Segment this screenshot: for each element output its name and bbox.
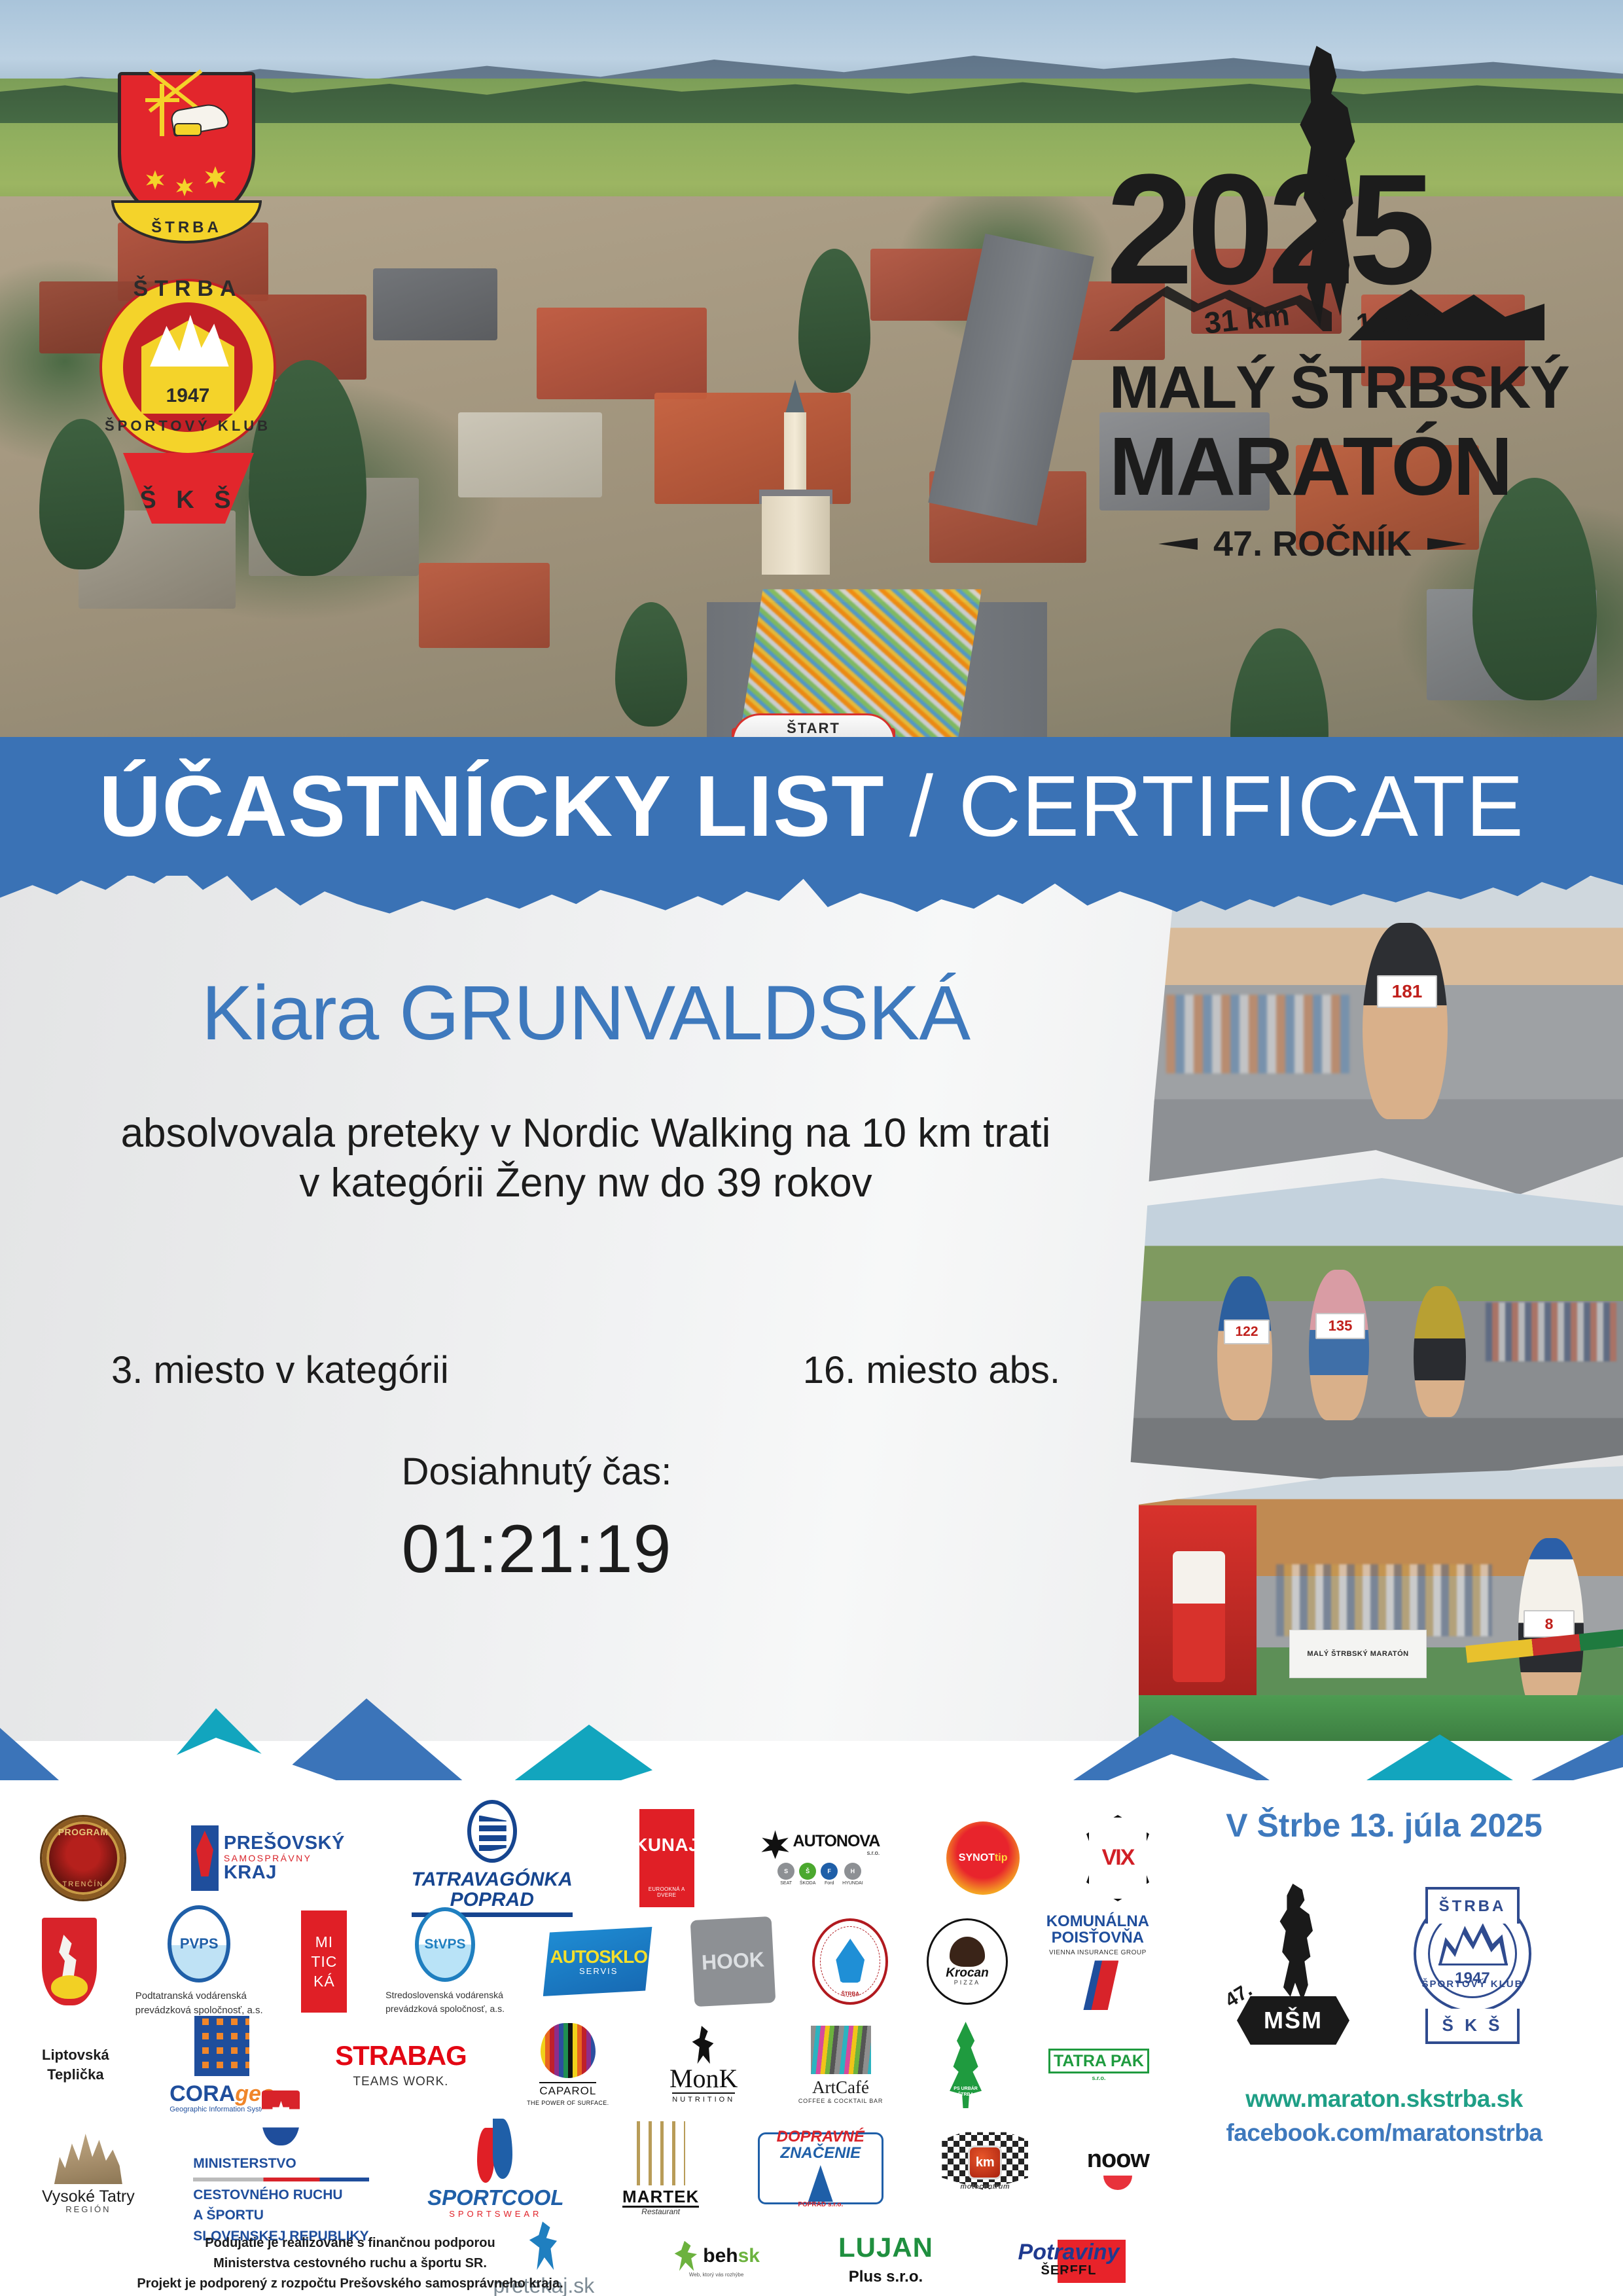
placement-row: 3. miesto v kategórii 16. miesto abs. [0,1348,1171,1392]
event-edition-label: 47. ROČNÍK [1213,524,1412,564]
kp-line-1: KOMUNÁLNA [1046,1913,1149,1929]
sponsor-row-2: PVPS Podtatranská vodárenská prevádzková… [39,1910,1152,2013]
event-title-line1: MALÝ ŠTRBSKÝ [1109,353,1569,422]
vix-name: VIX [1102,1846,1134,1870]
miticka-line-2: TIC [311,1954,337,1969]
lujan-line-2: Plus s.r.o. [849,2269,923,2285]
sks-strba-club-logo-icon: ŠTRBA 1947 ŠPORTOVÝ KLUB Š K Š [80,262,296,543]
pd-sub: ŠTRBA [815,1992,885,1997]
finish-banner-text: MALÝ ŠTRBSKÝ MARATÓN [1289,1630,1427,1678]
crest-town-label: ŠTRBA [151,219,222,237]
brand-hyundai: HYUNDAI [842,1881,863,1886]
start-arch-label: ŠTART [787,720,840,737]
autosklo-name: AUTOSKLO [550,1947,647,1966]
sponsor-grid: PROGRAM TRENČÍN PREŠOVSKÝ SAMOSPRÁVNY KR… [39,1806,1152,2296]
footer-logos: 47. MŠM ŠTRBA 1947 ŠPORTOVÝ KLUB Š K Š [1171,1884,1597,2047]
finish-time-block: Dosiahnutý čas: 01:21:19 [0,1450,1073,1588]
runner-silhouette-icon [1266,1884,1325,2001]
sponsor-logo-noow: noow [1087,2147,1149,2190]
footer-right-column: V Štrbe 13. júla 2025 47. MŠM ŠTRBA 1947… [1171,1806,1597,2147]
time-label: Dosiahnutý čas: [0,1450,1073,1494]
msm-47-logo: 47. MŠM [1225,1884,1356,2047]
psk-line-2: SAMOSPRÁVNY [224,1854,345,1863]
arrow-right-icon [1427,538,1467,550]
synot-accent: tip [995,1852,1008,1863]
facebook-link[interactable]: facebook.com/maratonstrba [1171,2119,1597,2147]
urbar-name: PS URBÁR ŠTRBA [949,2086,983,2098]
kp-line-3: VIENNA INSURANCE GROUP [1046,1950,1149,1957]
vt-line-1: Vysoké Tatry [42,2188,135,2205]
moto-name: km [968,2145,1002,2179]
dz-line-2: ZNAČENIE [777,2145,865,2161]
martek-sub: Restaurant [641,2208,680,2216]
sponsor-logo-miticka: MI TIC KÁ [301,1910,347,2013]
noow-name: noow [1087,2147,1149,2173]
sponsor-logo-presovsky-kraj: PREŠOVSKÝ SAMOSPRÁVNY KRAJ [191,1825,345,1891]
psk-flame-icon [191,1825,219,1891]
dz-sub: POPRAD s.r.o. [798,2202,843,2209]
sponsor-logo-krocan-pizza: Krocan PIZZA [927,1918,1008,2005]
club-arc-label: ŠPORTOVÝ KLUB [105,418,271,434]
bib-number: 181 [1377,975,1437,1008]
issue-date: V Štrbe 13. júla 2025 [1171,1806,1597,1844]
lt-line-1: Liptovská [42,2045,109,2065]
beh-name: beh [703,2245,738,2267]
sponsor-logo-ps-urbar-strba: PS URBÁR ŠTRBA [944,2022,988,2108]
artcafe-sub: COFFEE & COCKTAIL BAR [798,2098,883,2104]
sponsor-row-4: Vysoké Tatry REGIÓN MINISTERSTVO CESTOVN… [39,2117,1152,2220]
place-in-category: 3. miesto v kategórii [111,1348,449,1392]
bib-number: 8 [1524,1610,1575,1638]
time-value: 01:21:19 [0,1511,1073,1588]
stvps-line-2: prevádzková spoločnosť, a.s. [385,2002,505,2016]
program-name: PROGRAM [58,1827,109,1837]
sponsor-logo-stvps: StVPS Stredoslovenská vodárenská prevádz… [385,1907,505,2016]
banner-title-separator: / [885,758,959,854]
sportcool-mark-icon [477,2119,514,2183]
sponsor-logo-martek-restaurant: MARTEK Restaurant [622,2121,699,2216]
psk-line-3: KRAJ [224,1863,345,1882]
miticka-line-3: KÁ [313,1973,335,1989]
sponsor-logo-tatrapak: TATRA PAK s.r.o. [1048,2049,1149,2082]
sponsor-logo-beh-sk: behsk Web, ktorý vás rozhýbe [673,2241,760,2278]
participant-name: Kiara GRUNVALDSKÁ [0,969,1171,1058]
sponsor-logo-km-motocentrum: km motocentrum [942,2129,1028,2208]
autosklo-sub: SERVIS [579,1967,618,1976]
triangle-sign-icon [808,2165,833,2202]
tatravagonka-mark-icon [467,1800,517,1863]
stamp-top-label: ŠTRBA [1425,1887,1520,1924]
sponsor-logo-ministerstvo: MINISTERSTVO CESTOVNÉHO RUCHU A ŠPORTU S… [193,2090,368,2246]
strba-coat-of-arms-icon: ŠTRBA [111,72,262,262]
club-top-label: ŠTRBA [133,276,242,302]
sponsor-logo-liptovska-teplicka-crest [42,1918,97,2005]
sponsor-logo-lujan-plus: LUJAN Plus s.r.o. [838,2233,933,2285]
event-logo: 2025 31 km 10 km MALÝ ŠTRBSKÝ MARATÓN 47… [1073,39,1616,615]
hook-name: HOOK [702,1949,766,1975]
sks-strba-stamp: ŠTRBA 1947 ŠPORTOVÝ KLUB Š K Š [1402,1887,1543,2044]
caparol-name: CAPAROL [539,2082,596,2097]
sponsor-logo-polnohospodarske-druzstvo-strba: ŠTRBA [812,1918,888,2005]
club-bottom-label: Š K Š [139,486,237,514]
certificate-description: absolvovala preteky v Nordic Walking na … [0,1109,1171,1208]
tree-icon: PS URBÁR ŠTRBA [944,2022,988,2108]
caparol-elephant-icon [541,2023,596,2078]
kp-mark-icon [1083,1960,1112,2010]
kp-line-2: POISŤOVŇA [1046,1929,1149,1946]
strabag-sub: TEAMS WORK. [353,2075,448,2089]
banner-title: ÚČASTNÍCKY LIST / CERTIFICATE [99,763,1524,850]
caparol-sub: THE POWER OF SURFACE. [527,2100,609,2106]
kunaj-name: KUNAJ [634,1835,699,1854]
strabag-name: STRABAG [335,2041,467,2070]
martek-name: MARTEK [622,2188,699,2208]
autonova-star-icon [761,1830,790,1859]
sponsor-logo-strabag: STRABAG TEAMS WORK. [335,2041,467,2089]
photo-runners-on-road: 122 135 [1119,1178,1623,1486]
website-link[interactable]: www.maraton.skstrba.sk [1171,2085,1597,2113]
monk-athlete-icon [690,2026,717,2064]
tatravagonka-line-1: TATRAVAGÓNKA [412,1869,573,1890]
dz-line-1: DOPRAVNÉ [777,2128,865,2145]
beh-accent: sk [738,2245,760,2267]
banner-title-bold: ÚČASTNÍCKY LIST [99,758,885,854]
pvps-line-1: Podtatranská vodárenská [135,1989,263,2004]
club-year-label: 1947 [166,385,210,406]
moto-sub: motocentrum [960,2183,1010,2191]
miticka-line-1: MI [315,1934,334,1950]
bib-number: 135 [1315,1313,1365,1339]
tatrapak-name: TATRA PAK [1048,2049,1149,2073]
min-line-1: MINISTERSTVO [193,2153,368,2174]
runner-icon [673,2241,699,2271]
funding-line-1: Podujatie je realizované s finančnou pod… [39,2233,661,2253]
sponsor-logo-caparol: CAPAROL THE POWER OF SURFACE. [527,2023,609,2106]
church-icon [753,412,838,576]
sponsor-logo-vix: VIX [1086,1815,1149,1901]
monk-name: MonK [669,2065,738,2092]
psk-line-1: PREŠOVSKÝ [224,1833,345,1853]
banner-title-light: CERTIFICATE [959,758,1524,854]
sponsor-logo-tatravagonka: TATRAVAGÓNKA POPRAD [412,1800,573,1917]
min-line-2: CESTOVNÉHO RUCHU [193,2185,368,2206]
sponsor-footer: PROGRAM TRENČÍN PREŠOVSKÝ SAMOSPRÁVNY KR… [0,1780,1623,2296]
autonova-sub: s.r.o. [793,1850,880,1856]
photo-finisher-jumping: 181 [1147,877,1623,1194]
sponsor-logo-kunaj: KUNAJ EUROOKNÁ A DVERE [639,1809,694,1907]
beh-sub: Web, ktorý vás rozhýbe [689,2272,743,2278]
sponsor-logo-program-trencin: PROGRAM TRENČÍN [42,1817,124,1899]
event-title-line2: MARATÓN [1109,419,1511,514]
certificate-text-block: Kiara GRUNVALDSKÁ absolvovala preteky v … [0,969,1171,1208]
sponsor-logo-monk-nutrition: MonK NUTRITION [669,2026,738,2104]
event-year: 2025 [1106,151,1429,308]
brand-ford: Ford [825,1881,834,1886]
artcafe-bars-icon [811,2026,871,2074]
program-sub: TRENČÍN [63,1881,104,1889]
synot-name: SYNOT [959,1852,995,1863]
corageo-grid-icon [194,2016,249,2076]
sponsor-logo-hook: HOOK [690,1916,776,2007]
sponsor-logo-autosklo-servis: AUTOSKLO SERVIS [543,1927,654,1996]
tatrapak-sub: s.r.o. [1092,2075,1105,2081]
stvps-line-1: Stredoslovenská vodárenská [385,1988,505,2002]
pvps-abbr: PVPS [180,1936,219,1951]
hero-aerial-photo: ŠTART ŠTRBA ŠTRBA [0,0,1623,746]
krocan-name: Krocan [946,1967,988,1980]
stamp-bottom-label: Š K Š [1425,2009,1520,2044]
sponsor-logo-komunalna-poistovna: KOMUNÁLNA POISŤOVŇA VIENNA INSURANCE GRO… [1046,1913,1149,2011]
funding-line-2: Ministerstva cestovného ruchu a športu S… [39,2253,661,2274]
brand-skoda: ŠKODA [800,1881,816,1886]
sportcool-name: SPORTCOOL [427,2187,563,2210]
krocan-sub: PIZZA [954,1980,981,1986]
stvps-abbr: StVPS [425,1937,466,1952]
lt-line-2: Teplička [47,2065,103,2085]
artcafe-name: ArtCafé [812,2078,869,2096]
bib-number: 122 [1224,1319,1270,1344]
msm-abbr: MŠM [1237,1996,1349,2045]
sponsor-logo-vysoke-tatry-region: Vysoké Tatry REGIÓN [42,2123,135,2214]
brand-seat: SEAT [780,1881,792,1886]
sponsor-logo-synot-tip: SYNOTtip [946,1821,1020,1895]
certificate-page: ŠTART ŠTRBA ŠTRBA [0,0,1623,2296]
sponsor-logo-artcafe: ArtCafé COFFEE & COCKTAIL BAR [798,2026,883,2105]
description-line-2: v kategórii Ženy nw do 39 rokov [0,1158,1171,1208]
stamp-arc-label: ŠPORTOVÝ KLUB [1421,1979,1524,1990]
lujan-line-1: LUJAN [838,2233,933,2262]
sponsor-logo-dopravne-znacenie-poprad: DOPRAVNÉ ZNAČENIE POPRAD s.r.o. [758,2132,883,2204]
funding-note: Podujatie je realizované s finančnou pod… [39,2233,661,2294]
place-absolute: 16. miesto abs. [803,1348,1060,1392]
description-line-1: absolvovala preteky v Nordic Walking na … [0,1109,1171,1158]
monk-sub: NUTRITION [672,2092,735,2104]
sponsor-label-liptovska-teplicka: Liptovská Teplička [42,2045,109,2084]
photo-collage: 181 122 135 MALÝ ŠTRBSKÝ MARATÓN 8 [1113,877,1623,1741]
turkey-icon [950,1937,985,1967]
min-line-3: A ŠPORTU [193,2205,368,2226]
sponsor-logo-autonova: AUTONOVA s.r.o. SSEAT ŠŠKODA FFord HHYUN… [761,1830,880,1886]
potraviny-line-1: Potraviny [1018,2241,1120,2265]
sponsor-logo-pvps: PVPS Podtatranská vodárenská prevádzková… [135,1905,263,2018]
arrow-left-icon [1158,538,1198,550]
sportcool-sub: SPORTSWEAR [427,2210,563,2219]
autonova-name: AUTONOVA [793,1833,880,1850]
sponsor-logo-potraviny-serfel: Potraviny ŠERFEL [1012,2225,1126,2293]
sponsor-row-1: PROGRAM TRENČÍN PREŠOVSKÝ SAMOSPRÁVNY KR… [39,1806,1152,1910]
cutlery-icon [637,2121,685,2185]
slovak-crest-icon [262,2090,300,2145]
photo-finish-line: MALÝ ŠTRBSKÝ MARATÓN 8 [1139,1466,1623,1741]
sponsor-logo-sportcool: SPORTCOOL SPORTSWEAR [427,2119,563,2218]
tatra-peaks-icon [54,2123,122,2184]
mountain-peaks-icon [1438,1918,1508,1965]
kunaj-sub: EUROOKNÁ A DVERE [639,1887,694,1898]
crest-figure-icon [55,1935,84,1983]
smile-icon [1103,2176,1132,2190]
vt-line-2: REGIÓN [65,2205,111,2214]
funding-line-3: Projekt je podporený z rozpočtu Prešovsk… [39,2274,661,2294]
